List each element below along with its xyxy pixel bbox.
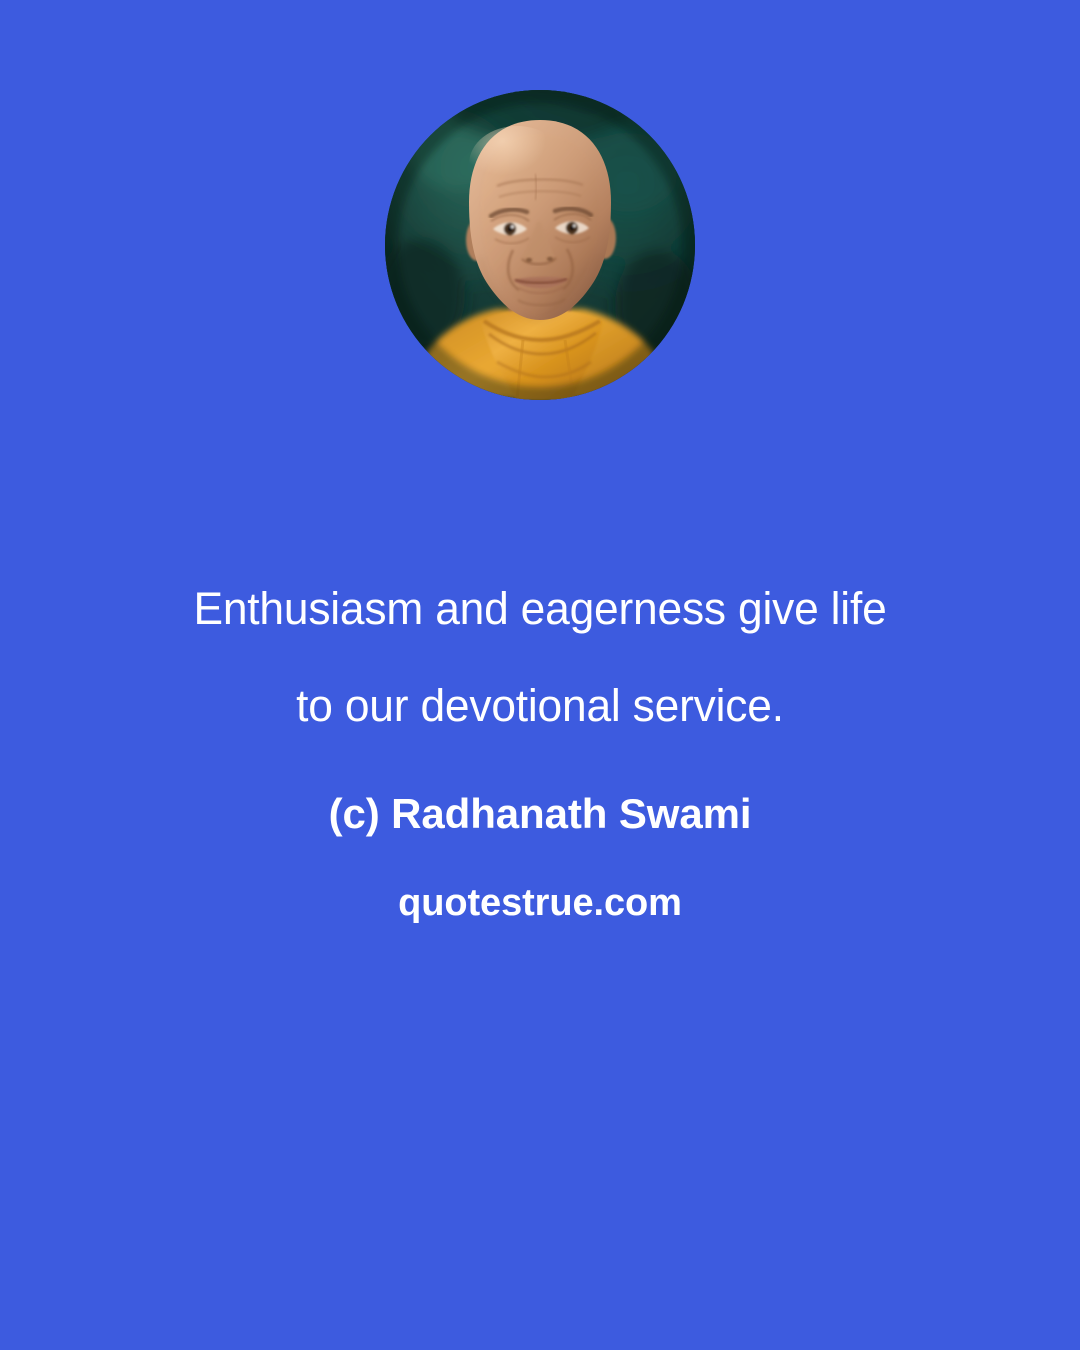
quote-line-1: Enthusiasm and eagerness give life xyxy=(8,560,1072,657)
quote-author: (c) Radhanath Swami xyxy=(0,790,1080,838)
site-watermark: quotestrue.com xyxy=(0,882,1080,925)
avatar xyxy=(385,90,695,400)
quote-text-block: Enthusiasm and eagerness give life to ou… xyxy=(0,560,1080,925)
quote-line-2: to our devotional service. xyxy=(8,657,1072,754)
portrait-photo-icon xyxy=(385,90,695,400)
quote-card: Enthusiasm and eagerness give life to ou… xyxy=(0,0,1080,1350)
